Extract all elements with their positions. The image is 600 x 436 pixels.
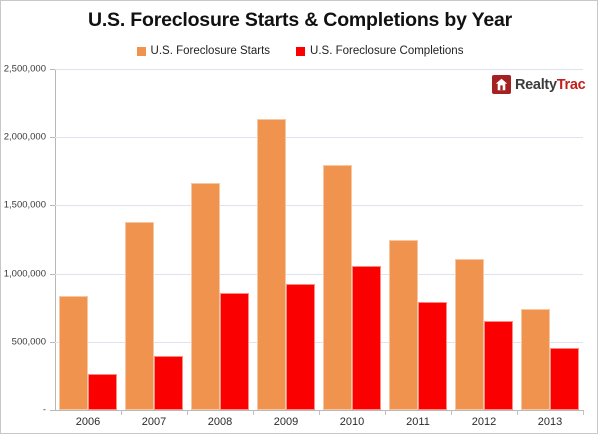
legend-item-completions[interactable]: U.S. Foreclosure Completions [296,45,463,57]
x-axis-tick-mark [517,410,518,415]
x-axis-tick-label-2008: 2008 [187,416,253,428]
y-axis-tick-label: 1,500,000 [0,200,46,211]
x-axis-tick-label-2012: 2012 [451,416,517,428]
x-axis-tick-mark [319,410,320,415]
x-axis-tick-mark [187,410,188,415]
y-axis-tick-mark [50,410,55,411]
chart-title: U.S. Foreclosure Starts & Completions by… [1,9,599,32]
x-axis-tick-label-2010: 2010 [319,416,385,428]
bar-starts-2010[interactable] [323,165,352,410]
x-axis-tick-label-2013: 2013 [517,416,583,428]
bar-starts-2012[interactable] [455,259,484,410]
bar-completions-2008[interactable] [220,293,249,410]
bar-completions-2010[interactable] [352,266,381,410]
legend-item-starts[interactable]: U.S. Foreclosure Starts [137,45,271,57]
x-axis-tick-mark [385,410,386,415]
bar-starts-2008[interactable] [191,183,220,410]
y-axis-tick-label: - [0,405,46,416]
bar-completions-2012[interactable] [484,321,513,410]
bar-group-2008 [191,69,249,410]
bar-group-2010 [323,69,381,410]
bar-starts-2006[interactable] [59,296,88,410]
y-axis-tick-label: 500,000 [0,336,46,347]
legend-label-starts: U.S. Foreclosure Starts [151,45,271,57]
x-axis-tick-mark [583,410,584,415]
y-axis-tick-label: 2,000,000 [0,132,46,143]
x-axis-tick-label-2006: 2006 [55,416,121,428]
legend-swatch-starts [137,47,146,56]
bar-completions-2011[interactable] [418,302,447,410]
bar-completions-2009[interactable] [286,284,315,410]
x-axis-tick-mark [121,410,122,415]
bar-starts-2011[interactable] [389,240,418,410]
bar-starts-2009[interactable] [257,119,286,410]
logo-trademark [585,79,586,85]
bar-starts-2007[interactable] [125,222,154,410]
bar-completions-2013[interactable] [550,348,579,410]
x-axis-tick-label-2009: 2009 [253,416,319,428]
y-axis-tick-label: 1,000,000 [0,268,46,279]
bar-group-2007 [125,69,183,410]
chart-legend: U.S. Foreclosure Starts U.S. Foreclosure… [1,45,599,57]
bar-completions-2007[interactable] [154,356,183,410]
bar-completions-2006[interactable] [88,374,117,410]
bar-group-2011 [389,69,447,410]
legend-swatch-completions [296,47,305,56]
bar-group-2012 [455,69,513,410]
plot-area [55,69,583,410]
bar-group-2006 [59,69,117,410]
x-axis-tick-mark [253,410,254,415]
chart-container: U.S. Foreclosure Starts & Completions by… [0,0,598,434]
x-axis-tick-mark [451,410,452,415]
x-axis-tick-label-2007: 2007 [121,416,187,428]
bar-starts-2013[interactable] [521,309,550,410]
y-axis-tick-label: 2,500,000 [0,64,46,75]
legend-label-completions: U.S. Foreclosure Completions [310,45,463,57]
x-axis-tick-label-2011: 2011 [385,416,451,428]
bar-group-2009 [257,69,315,410]
bar-group-2013 [521,69,579,410]
